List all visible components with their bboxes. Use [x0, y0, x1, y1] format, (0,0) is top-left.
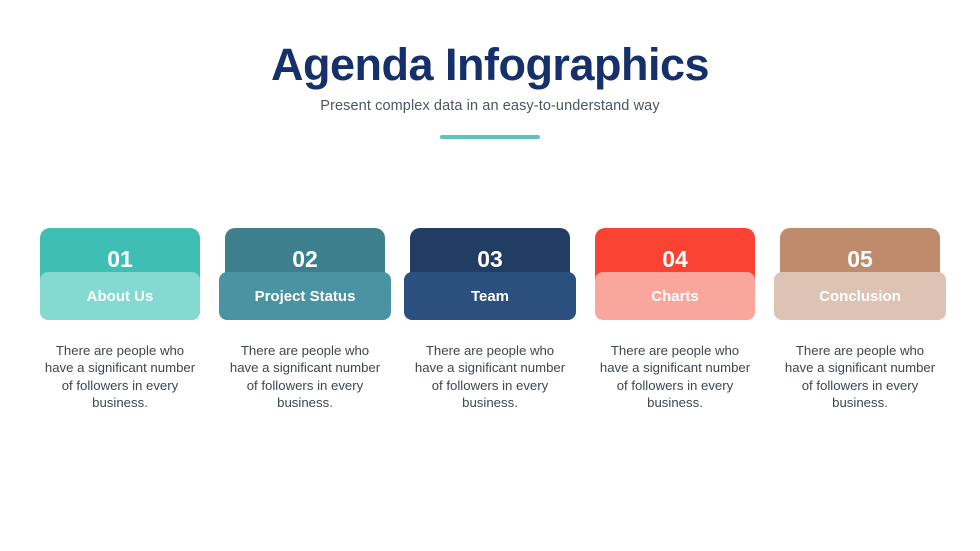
slide-canvas: Agenda Infographics Present complex data…: [0, 0, 980, 551]
card-number: 04: [662, 246, 688, 273]
agenda-card[interactable]: 03 Team There are people who have a sign…: [410, 228, 570, 412]
card-label: Project Status: [255, 288, 356, 305]
card-label: Conclusion: [819, 288, 901, 305]
page-subtitle: Present complex data in an easy-to-under…: [0, 98, 980, 114]
card-description: There are people who have a significant …: [780, 342, 940, 412]
card-label-box: About Us: [40, 272, 200, 320]
card-label-box: Team: [404, 272, 576, 320]
page-title: Agenda Infographics: [0, 40, 980, 90]
agenda-cards-row: 01 About Us There are people who have a …: [40, 228, 940, 412]
card-label-box: Charts: [595, 272, 755, 320]
card-number: 02: [292, 246, 318, 273]
card-description: There are people who have a significant …: [40, 342, 200, 412]
agenda-card[interactable]: 05 Conclusion There are people who have …: [780, 228, 940, 412]
card-label: Charts: [651, 288, 699, 305]
card-label-box: Conclusion: [774, 272, 946, 320]
card-label-box: Project Status: [219, 272, 391, 320]
card-number: 01: [107, 246, 133, 273]
card-number: 05: [847, 246, 873, 273]
card-description: There are people who have a significant …: [225, 342, 385, 412]
title-underline-divider: [440, 135, 540, 139]
card-description: There are people who have a significant …: [410, 342, 570, 412]
card-number: 03: [477, 246, 503, 273]
agenda-card[interactable]: 01 About Us There are people who have a …: [40, 228, 200, 412]
card-label: About Us: [87, 288, 154, 305]
agenda-card[interactable]: 02 Project Status There are people who h…: [225, 228, 385, 412]
card-label: Team: [471, 288, 509, 305]
card-description: There are people who have a significant …: [595, 342, 755, 412]
agenda-card[interactable]: 04 Charts There are people who have a si…: [595, 228, 755, 412]
